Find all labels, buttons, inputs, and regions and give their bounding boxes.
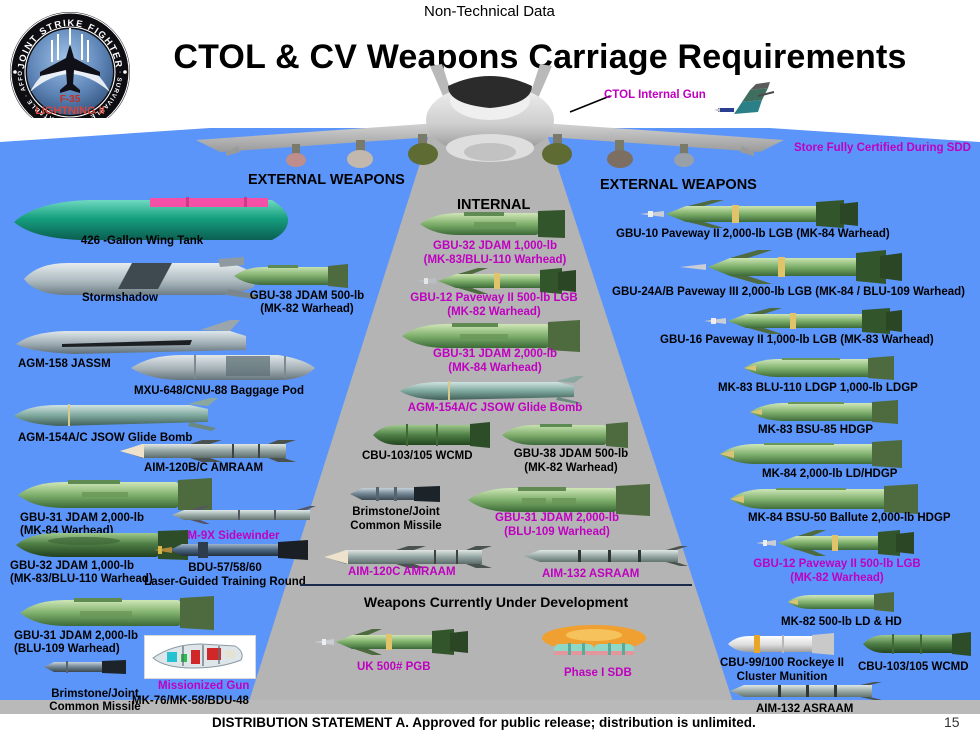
section-header-right-external: EXTERNAL WEAPONS <box>600 177 757 193</box>
section-header-left-external: EXTERNAL WEAPONS <box>248 172 405 188</box>
store-cbu103-right <box>860 632 974 656</box>
store-gbu38-internal <box>500 422 630 448</box>
label-mk82: MK-82 500-lb LD & HD <box>781 616 902 629</box>
store-phase1-sdb <box>538 624 648 664</box>
f35-aircraft-front-view-icon <box>180 60 800 170</box>
store-mk84 <box>718 440 908 468</box>
store-jsow-left <box>12 398 220 432</box>
store-aim9x-sidewinder <box>170 506 320 524</box>
label-aim120c-internal: AIM-120C AMRAAM <box>348 566 456 579</box>
label-missionized-gun: Missionized Gun <box>158 680 249 693</box>
store-gbu31-blu109-left <box>18 596 218 630</box>
label-gbu31-internal: GBU-31 JDAM 2,000-lb (MK-84 Warhead) <box>390 348 600 375</box>
store-brimstone-internal <box>348 486 444 502</box>
label-cbu99: CBU-99/100 Rockeye II Cluster Munition <box>706 657 858 684</box>
label-stormshadow: Stormshadow <box>26 292 214 305</box>
store-jsow-internal <box>398 376 584 404</box>
label-gbu24: GBU-24A/B Paveway III 2,000-lb LGB (MK-8… <box>612 286 965 299</box>
store-aim120c-internal <box>322 546 496 568</box>
store-mk83-bsu85 <box>748 400 904 424</box>
label-cbu-internal: CBU-103/105 WCMD <box>362 450 473 463</box>
label-uk500-pgb: UK 500# PGB <box>357 661 431 674</box>
label-jsow-internal: AGM-154A/C JSOW Glide Bomb <box>380 402 610 415</box>
label-brimstone-internal: Brimstone/Joint Common Missile <box>330 506 462 533</box>
label-mk84: MK-84 2,000-lb LD/HDGP <box>762 468 897 481</box>
ctol-internal-gun-label: CTOL Internal Gun <box>604 89 706 101</box>
store-gbu24 <box>672 250 904 284</box>
page-number: 15 <box>944 714 960 730</box>
store-gbu10 <box>636 200 860 228</box>
store-gbu38-left <box>232 264 352 288</box>
label-agm158-jassm: AGM-158 JASSM <box>18 358 111 371</box>
label-baggage-pod: MXU-648/CNU-88 Baggage Pod <box>134 385 304 398</box>
svg-text:LIGHTNING II: LIGHTNING II <box>35 105 105 117</box>
store-cbu99 <box>726 633 838 655</box>
store-mk82 <box>786 592 898 612</box>
store-bdu-57-58-60 <box>152 540 314 560</box>
missionized-gun-photo <box>144 635 256 679</box>
distribution-statement: DISTRIBUTION STATEMENT A. Approved for p… <box>212 715 756 730</box>
store-gbu16 <box>700 308 904 334</box>
label-aim120bc: AIM-120B/C AMRAAM <box>144 462 263 475</box>
sdd-certification-note: Store Fully Certified During SDD <box>794 142 971 154</box>
section-header-under-development: Weapons Currently Under Development <box>300 594 692 610</box>
label-phase1-sdb: Phase I SDB <box>564 667 632 680</box>
store-aim120bc-amraam <box>118 440 298 462</box>
store-gbu32-internal <box>418 210 568 238</box>
label-mk83-bsu85: MK-83 BSU-85 HDGP <box>758 424 873 437</box>
store-uk500-pgb <box>310 629 470 655</box>
store-gbu12-internal <box>412 268 580 294</box>
label-gbu31-blu109-internal: GBU-31 JDAM 2,000-lb (BLU-109 Warhead) <box>462 512 652 539</box>
store-baggage-pod <box>128 352 318 384</box>
store-gbu12-right <box>752 530 918 556</box>
ctol-internal-gun-illustration <box>712 78 778 124</box>
label-gbu12-right: GBU-12 Paveway II 500-lb LGB (MK-82 Warh… <box>742 558 932 585</box>
label-gbu38-left: GBU-38 JDAM 500-lb (MK-82 Warhead) <box>224 290 390 316</box>
store-brimstone-left <box>42 660 130 674</box>
label-gbu12-internal: GBU-12 Paveway II 500-lb LGB (MK-82 Warh… <box>378 292 610 319</box>
slide-canvas: Non-Technical Data CTOL & CV Weapons Car… <box>0 0 980 736</box>
label-gbu16: GBU-16 Paveway II 1,000-lb LGB (MK-83 Wa… <box>660 334 934 347</box>
label-cbu103-right: CBU-103/105 WCMD <box>858 661 969 674</box>
store-mk84-bsu50 <box>728 484 924 514</box>
label-wing-tank: 426 -Gallon Wing Tank <box>22 235 262 248</box>
label-mk83-ldgp: MK-83 BLU-110 LDGP 1,000-lb LDGP <box>718 382 918 395</box>
label-gbu38-internal: GBU-38 JDAM 500-lb (MK-82 Warhead) <box>486 448 656 475</box>
label-bdu-training-round: BDU-57/58/60 Laser-Guided Training Round <box>126 562 324 589</box>
label-gbu32-internal: GBU-32 JDAM 1,000-lb (MK-83/BLU-110 Warh… <box>390 240 600 267</box>
label-mk76-mk58-bdu48: MK-76/MK-58/BDU-48 <box>132 695 249 708</box>
store-asraam-right <box>728 682 888 700</box>
label-gbu10: GBU-10 Paveway II 2,000-lb LGB (MK-84 Wa… <box>616 228 890 241</box>
store-cbu-internal <box>370 422 492 448</box>
store-mk83-ldgp <box>742 356 902 380</box>
label-gbu31-blu109-left: GBU-31 JDAM 2,000-lb (BLU-109 Warhead) <box>14 630 138 656</box>
non-technical-data-note: Non-Technical Data <box>424 3 555 20</box>
store-asraam-internal <box>522 546 694 566</box>
label-mk84-bsu50: MK-84 BSU-50 Ballute 2,000-lb HDGP <box>748 512 951 525</box>
development-divider <box>300 584 692 586</box>
label-asraam-internal: AIM-132 ASRAAM <box>542 568 639 581</box>
jsf-program-logo-icon: JOINT STRIKE FIGHTER LETHAL · SURVIVABLE… <box>8 10 132 134</box>
svg-text:F-35: F-35 <box>60 94 81 105</box>
